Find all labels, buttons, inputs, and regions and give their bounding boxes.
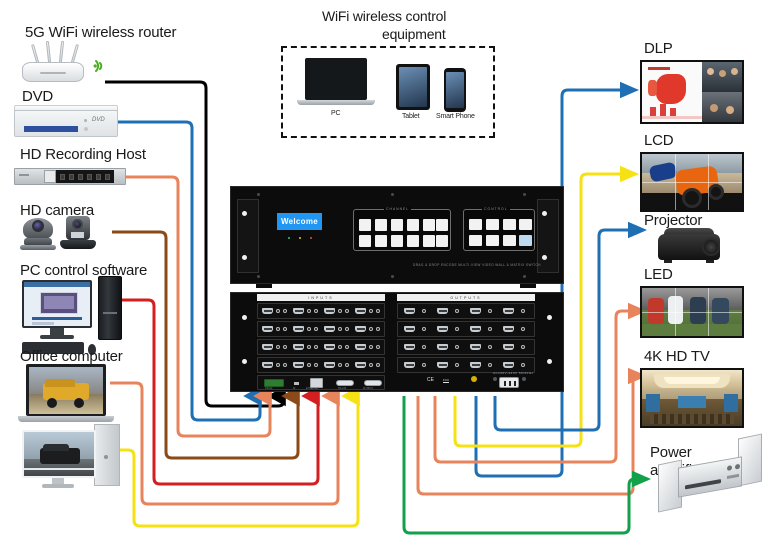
port-label-ir: IR	[293, 387, 295, 390]
fcc-mark: FCC	[443, 378, 449, 383]
output-label-projector: Projector	[644, 212, 702, 229]
control-group-label: CONTROL	[482, 207, 510, 211]
wifi-device-tablet	[396, 64, 430, 110]
inputs-header: INPUTS	[257, 294, 385, 301]
cable-amplifier	[404, 396, 648, 533]
wifi-device-phone	[444, 68, 466, 112]
output-label-lcd: LCD	[644, 132, 673, 149]
matrix-rear-panel: INPUTS OUTPUTS	[230, 292, 564, 392]
wifi-box-title-line2: equipment	[382, 26, 446, 42]
lcd-videowall-display	[640, 152, 744, 212]
rack-foot-left	[256, 284, 272, 288]
port-label-rs232: RS232	[265, 387, 272, 390]
input-card-row-2	[257, 321, 385, 337]
port-label-ethernet: ETHERNET	[306, 387, 319, 390]
source-label-router: 5G WiFi wireless router	[25, 24, 176, 41]
source-label-dvd: DVD	[22, 88, 53, 105]
output-card-row-3	[397, 339, 535, 355]
input-card-row-4	[257, 357, 385, 373]
output-label-amplifier-line1: Power	[650, 444, 692, 461]
rs232-db9-port[interactable]	[336, 380, 354, 386]
output-label-led: LED	[644, 266, 673, 283]
source-label-pcctrl: PC control software	[20, 262, 147, 279]
matrix-lcd-display: Welcome	[277, 213, 322, 230]
input-card-row-3	[257, 339, 385, 355]
matrix-channel-keypad[interactable]: CHANNEL	[353, 209, 451, 251]
dlp-display	[640, 60, 744, 124]
wifi-device-label-pc: PC	[331, 110, 340, 117]
ce-mark: CE	[427, 377, 434, 383]
output-label-4ktv: 4K HD TV	[644, 348, 710, 365]
outputs-header: OUTPUTS	[397, 294, 535, 301]
wifi-device-label-tablet: Tablet	[402, 113, 419, 120]
matrix-control-keypad[interactable]: CONTROL	[463, 209, 535, 251]
source-label-office: Office computer	[20, 348, 123, 365]
ground-terminal	[471, 376, 477, 382]
wifi-signal-icon	[92, 57, 110, 75]
input-card-row-1	[257, 303, 385, 319]
output-card-row-1	[397, 303, 535, 319]
source-label-recorder: HD Recording Host	[20, 146, 146, 163]
channel-group-label: CHANNEL	[384, 207, 411, 211]
led-videowall-display	[640, 286, 744, 338]
wifi-device-label-phone: Smart Phone	[436, 113, 475, 120]
rack-foot-right	[520, 284, 536, 288]
tv-4k-display	[640, 368, 744, 428]
ir-port[interactable]	[294, 382, 299, 385]
diagram-canvas: 5G WiFi wireless router DVD DVD HD Recor…	[0, 0, 769, 558]
ac-input-label: AC100V-240V 50/60Hz	[493, 371, 534, 375]
cable-office-laptop	[110, 383, 338, 504]
port-label-rs232b: RS-232	[338, 387, 346, 390]
output-label-dlp: DLP	[644, 40, 673, 57]
ir-input-port[interactable]	[364, 380, 382, 386]
matrix-brand-text: DRAG & DROP ENCODE MULTI-VIEW VIDEO WALL…	[413, 263, 541, 267]
rs232-terminal-block[interactable]	[264, 379, 284, 387]
cable-office-monitor	[112, 396, 358, 526]
control-port-strip: RS232 IR ETHERNET RS-232 IR-INPUT	[257, 375, 385, 390]
ac-power-inlet[interactable]	[499, 377, 519, 388]
matrix-front-panel: Welcome CHANNEL CONTROL	[230, 186, 564, 284]
wifi-box-title-line1: WiFi wireless control	[322, 8, 446, 24]
port-label-irinput: IR-INPUT	[363, 387, 373, 390]
cable-4ktv	[418, 376, 644, 494]
output-card-row-2	[397, 321, 535, 337]
